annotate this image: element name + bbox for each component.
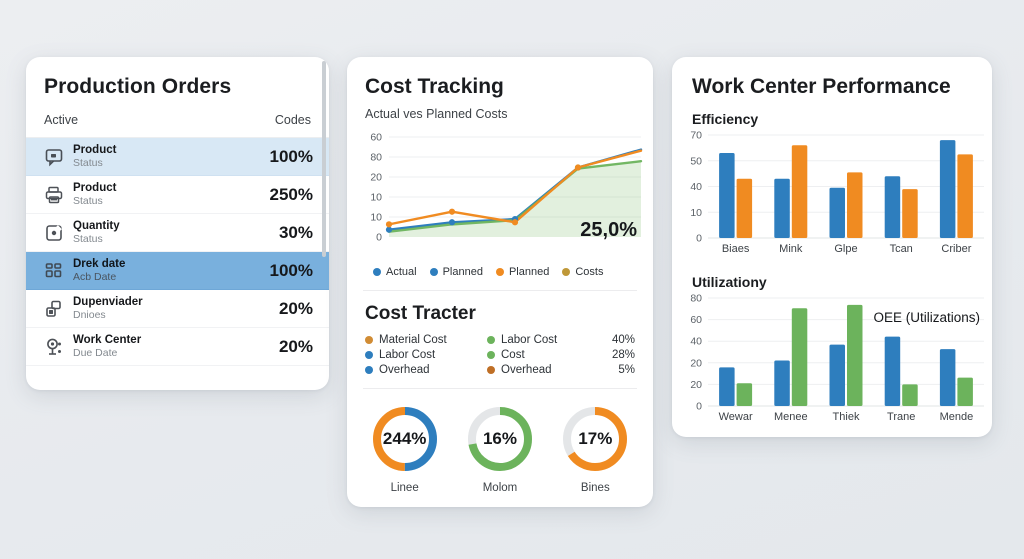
bar: [792, 145, 808, 238]
target-node-icon: [44, 337, 64, 357]
oee-annotation: OEE (Utilizations): [873, 310, 980, 325]
order-row-text: Work CenterDue Date: [73, 334, 279, 358]
svg-text:Mende: Mende: [940, 411, 974, 423]
svg-text:Tcan: Tcan: [890, 243, 913, 255]
order-row-text: DupenviaderDnioes: [73, 296, 279, 320]
legend-dot-icon: [487, 366, 495, 374]
legend-label: Actual: [386, 266, 417, 278]
order-row-text: Drek dateAcb Date: [73, 258, 270, 282]
column-header-codes: Codes: [275, 113, 311, 127]
order-row-text: QuantityStatus: [73, 220, 279, 244]
printer-icon: [44, 185, 64, 205]
legend-label: Planned: [509, 266, 549, 278]
order-name: Dupenviader: [73, 296, 279, 308]
production-orders-list: ProductStatus100%ProductStatus250%Quanti…: [26, 138, 329, 366]
order-row[interactable]: ProductStatus250%: [26, 176, 329, 214]
order-row[interactable]: QuantityStatus30%: [26, 214, 329, 252]
bar: [902, 384, 918, 406]
grid-blocks-icon: [44, 261, 64, 281]
legend-dot-icon: [487, 336, 495, 344]
svg-text:Criber: Criber: [941, 243, 971, 255]
bar: [737, 179, 753, 238]
svg-text:40: 40: [690, 181, 702, 193]
svg-text:80: 80: [690, 293, 702, 305]
svg-text:10: 10: [370, 212, 382, 224]
production-orders-card: Production Orders Active Codes ProductSt…: [26, 57, 329, 390]
bar: [902, 189, 918, 238]
utilization-section-title: Utilizationy: [672, 262, 992, 290]
copy-squares-icon: [44, 299, 64, 319]
tracter-label: Cost: [501, 349, 525, 361]
svg-text:Menee: Menee: [774, 411, 808, 423]
svg-text:0: 0: [376, 232, 382, 244]
utilization-bar-chart: 80604020200WewarMeneeThiekTraneMende OEE…: [672, 290, 992, 430]
bar: [847, 305, 863, 406]
legend-dot-icon: [373, 268, 381, 276]
bar: [830, 188, 846, 238]
donut-holder: 16%: [464, 403, 536, 475]
legend-dot-icon: [430, 268, 438, 276]
order-status: Status: [73, 234, 279, 245]
order-row[interactable]: Work CenterDue Date20%: [26, 328, 329, 366]
tracter-label: Labor Cost: [501, 334, 557, 346]
production-orders-title: Production Orders: [26, 57, 329, 99]
order-value: 100%: [270, 147, 313, 167]
cost-tracter-title: Cost Tracter: [347, 291, 653, 325]
bar: [847, 172, 863, 238]
donut-value: 244%: [369, 429, 441, 449]
tracter-label: Overhead: [379, 364, 430, 376]
cost-tracking-card: Cost Tracking Actual ves Planned Costs 6…: [347, 57, 653, 507]
order-row[interactable]: ProductStatus100%: [26, 138, 329, 176]
svg-text:50: 50: [690, 155, 702, 167]
legend-dot-icon: [365, 336, 373, 344]
bar: [885, 337, 901, 406]
svg-text:0: 0: [696, 233, 702, 245]
legend-item[interactable]: Planned: [496, 266, 549, 278]
cost-big-percent: 25,0%: [580, 219, 637, 242]
svg-text:20: 20: [690, 379, 702, 391]
tracter-mid-item: Labor Cost: [487, 334, 595, 346]
production-orders-column-headers: Active Codes: [26, 99, 329, 138]
tracter-mid-item: Overhead: [487, 364, 595, 376]
donut-gauge: 244%Linee: [369, 403, 441, 494]
order-value: 20%: [279, 299, 313, 319]
bar: [719, 153, 735, 238]
efficiency-bar-chart-svg: 705040100BiaesMinkGlpeTcanCriber: [672, 127, 992, 262]
donut-label: Linee: [369, 482, 441, 494]
file-dot-icon: [44, 223, 64, 243]
tracter-value: 28%: [595, 349, 635, 361]
svg-text:10: 10: [370, 192, 382, 204]
svg-text:80: 80: [370, 152, 382, 164]
donut-holder: 17%: [559, 403, 631, 475]
donut-holder: 244%: [369, 403, 441, 475]
bar: [957, 378, 973, 406]
column-header-active: Active: [44, 113, 78, 127]
tracter-left-item: Labor Cost: [365, 349, 487, 361]
legend-dot-icon: [365, 351, 373, 359]
tracter-label: Labor Cost: [379, 349, 435, 361]
donut-label: Molom: [464, 482, 536, 494]
svg-text:Biaes: Biaes: [722, 243, 750, 255]
order-name: Product: [73, 144, 270, 156]
svg-text:60: 60: [690, 314, 702, 326]
svg-text:60: 60: [370, 132, 382, 144]
order-name: Quantity: [73, 220, 279, 232]
legend-dot-icon: [365, 366, 373, 374]
order-value: 20%: [279, 337, 313, 357]
legend-label: Costs: [575, 266, 603, 278]
legend-dot-icon: [487, 351, 495, 359]
bar: [774, 179, 790, 238]
message-square-icon: [44, 147, 64, 167]
legend-dot-icon: [562, 268, 570, 276]
legend-item[interactable]: Costs: [562, 266, 603, 278]
legend-label: Planned: [443, 266, 483, 278]
donut-value: 16%: [464, 429, 536, 449]
tracter-label: Material Cost: [379, 334, 447, 346]
bar: [940, 140, 956, 238]
svg-text:Glpe: Glpe: [834, 243, 857, 255]
svg-text:70: 70: [690, 130, 702, 142]
legend-item[interactable]: Planned: [430, 266, 483, 278]
order-value: 30%: [279, 223, 313, 243]
tracter-label: Overhead: [501, 364, 552, 376]
order-row-text: ProductStatus: [73, 144, 270, 168]
svg-text:10: 10: [690, 207, 702, 219]
donut-gauge: 16%Molom: [464, 403, 536, 494]
bar: [957, 154, 973, 238]
cost-donut-row: 244%Linee16%Molom17%Bines: [347, 389, 653, 494]
tracter-left-item: Overhead: [365, 364, 487, 376]
cost-tracter-legend-grid: Material CostLabor Cost40%Labor CostCost…: [347, 325, 653, 376]
order-name: Drek date: [73, 258, 270, 270]
svg-text:0: 0: [696, 401, 702, 413]
cost-tracking-subtitle: Actual ves Planned Costs: [347, 99, 653, 121]
order-status: Dnioes: [73, 310, 279, 321]
bar: [885, 176, 901, 238]
legend-dot-icon: [496, 268, 504, 276]
bar: [830, 345, 846, 406]
svg-text:Mink: Mink: [779, 243, 803, 255]
bar: [792, 308, 808, 406]
donut-value: 17%: [559, 429, 631, 449]
order-name: Product: [73, 182, 270, 194]
donut-label: Bines: [559, 482, 631, 494]
order-name: Work Center: [73, 334, 279, 346]
svg-text:Trane: Trane: [887, 411, 915, 423]
order-value: 250%: [270, 185, 313, 205]
bar: [774, 361, 790, 406]
dashboard-board: Production Orders Active Codes ProductSt…: [0, 0, 1024, 559]
work-center-title: Work Center Performance: [672, 57, 992, 99]
order-status: Status: [73, 158, 270, 169]
efficiency-bar-chart: 705040100BiaesMinkGlpeTcanCriber: [672, 127, 992, 262]
svg-text:20: 20: [370, 172, 382, 184]
order-row[interactable]: Drek dateAcb Date100%: [26, 252, 329, 290]
order-row[interactable]: DupenviaderDnioes20%: [26, 290, 329, 328]
donut-gauge: 17%Bines: [559, 403, 631, 494]
tracter-value: 5%: [595, 364, 635, 376]
legend-item[interactable]: Actual: [373, 266, 417, 278]
order-status: Acb Date: [73, 272, 270, 283]
bar: [719, 367, 735, 406]
tracter-left-item: Material Cost: [365, 334, 487, 346]
svg-text:Thiek: Thiek: [833, 411, 860, 423]
svg-text:20: 20: [690, 357, 702, 369]
cost-chart-legend: ActualPlannedPlannedCosts: [347, 262, 653, 278]
order-value: 100%: [270, 261, 313, 281]
cost-line-chart: 60802010100 25,0%: [347, 127, 653, 262]
bar: [940, 349, 956, 406]
tracter-mid-item: Cost: [487, 349, 595, 361]
tracter-value: 40%: [595, 334, 635, 346]
cost-tracking-title: Cost Tracking: [347, 57, 653, 99]
work-center-performance-card: Work Center Performance Efficiency 70504…: [672, 57, 992, 437]
svg-text:40: 40: [690, 336, 702, 348]
bar: [737, 383, 753, 406]
order-status: Due Date: [73, 348, 279, 359]
orders-scrollbar[interactable]: [322, 61, 326, 257]
order-row-text: ProductStatus: [73, 182, 270, 206]
efficiency-section-title: Efficiency: [672, 99, 992, 127]
order-status: Status: [73, 196, 270, 207]
svg-text:Wewar: Wewar: [719, 411, 753, 423]
